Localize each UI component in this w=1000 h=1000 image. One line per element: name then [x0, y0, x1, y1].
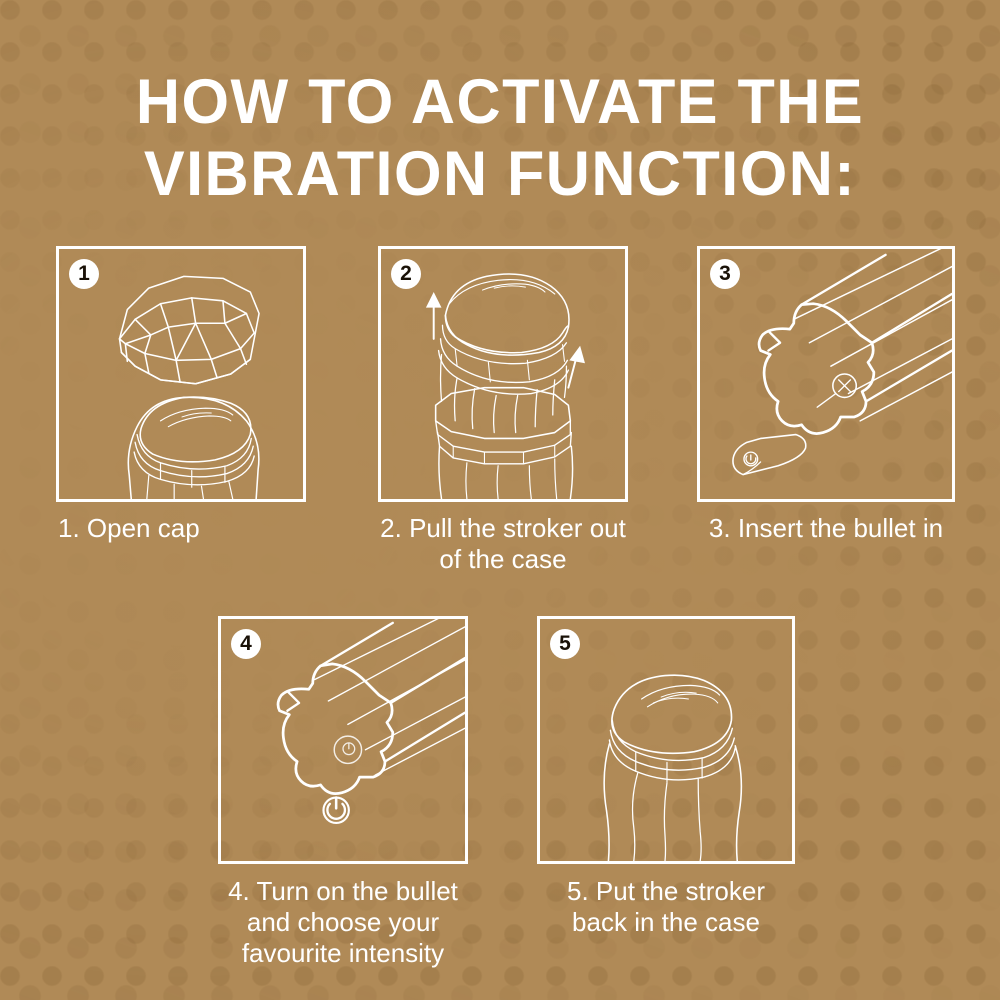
bullet-port-icon	[817, 374, 856, 407]
page-title: HOW TO ACTIVATE THE VIBRATION FUNCTION:	[0, 66, 1000, 210]
step-3-badge: 3	[710, 259, 740, 289]
step-5-panel: 5	[537, 616, 795, 864]
step-5-caption: 5. Put the stroker back in the case	[537, 876, 795, 938]
step-3: 3	[697, 246, 955, 544]
title-line-2: VIBRATION FUNCTION:	[15, 138, 985, 210]
title-line-1: HOW TO ACTIVATE THE	[15, 66, 985, 138]
arrow-up-icon-left	[426, 292, 442, 339]
step-4-caption: 4. Turn on the bullet and choose your fa…	[218, 876, 468, 969]
step-4: 4	[218, 616, 468, 969]
step-3-illustration	[700, 249, 952, 499]
step-4-illustration	[221, 619, 465, 861]
step-5: 5	[537, 616, 795, 938]
bullet-vibrator	[733, 435, 806, 475]
step-2-illustration	[381, 249, 625, 499]
bullet-port-icon	[334, 736, 361, 763]
step-3-panel: 3	[697, 246, 955, 502]
step-2-badge: 2	[391, 259, 421, 289]
step-4-panel: 4	[218, 616, 468, 864]
step-1-caption: 1. Open cap	[56, 513, 306, 544]
arrow-up-icon-right	[568, 346, 585, 388]
step-2: 2	[378, 246, 628, 575]
step-2-caption: 2. Pull the stroker out of the case	[378, 513, 628, 575]
step-1-panel: 1	[56, 246, 306, 502]
step-1-illustration	[59, 249, 303, 499]
power-icon	[323, 798, 348, 823]
step-2-panel: 2	[378, 246, 628, 502]
step-4-badge: 4	[231, 629, 261, 659]
step-1: 1	[56, 246, 306, 544]
infographic-canvas: HOW TO ACTIVATE THE VIBRATION FUNCTION: …	[0, 0, 1000, 1000]
step-5-illustration	[540, 619, 792, 861]
step-5-badge: 5	[550, 629, 580, 659]
step-1-badge: 1	[69, 259, 99, 289]
step-3-caption: 3. Insert the bullet in	[697, 513, 955, 544]
